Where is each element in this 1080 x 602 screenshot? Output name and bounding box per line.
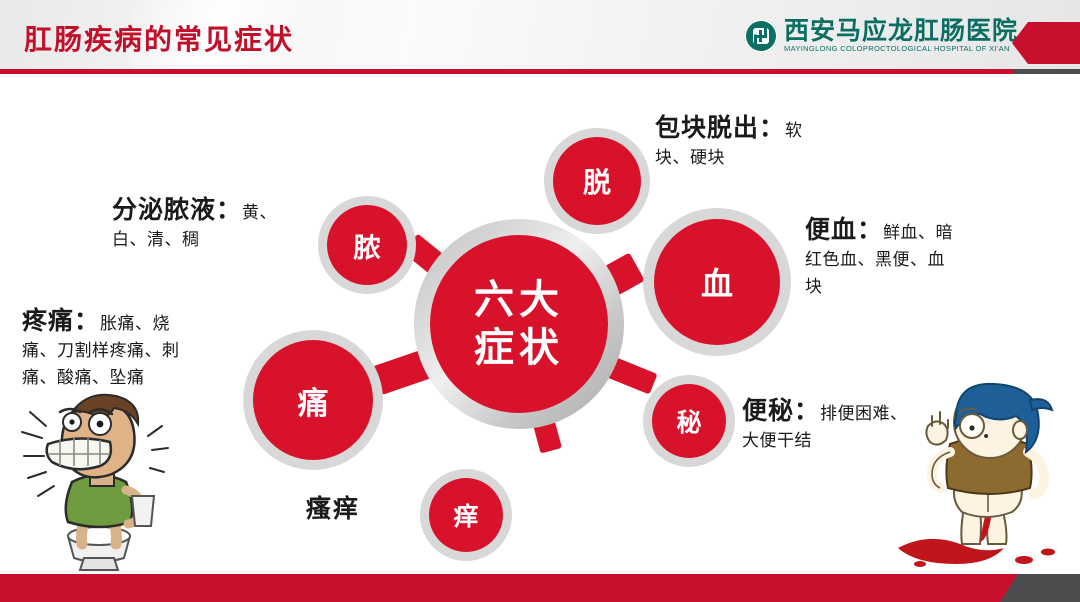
illustration-man-on-toilet xyxy=(12,386,187,571)
header-chevron-accent xyxy=(1012,22,1080,64)
page-title: 肛肠疾病的常见症状 xyxy=(24,18,294,58)
logo-name-cn: 西安马应龙肛肠医院 xyxy=(784,18,1018,44)
center-hub-line1: 六大 xyxy=(474,276,564,324)
node-yang[interactable]: 痒 xyxy=(429,478,503,552)
node-nong-label: 脓 xyxy=(354,226,381,265)
node-tong-label: 痛 xyxy=(298,378,329,423)
hospital-cross-emblem-icon xyxy=(744,19,778,53)
hospital-logo: 西安马应龙肛肠医院 MAYINGLONG COLOPROCTOLOGICAL H… xyxy=(744,13,1018,59)
center-hub[interactable]: 六大 症状 xyxy=(430,235,608,413)
callout-bianxue: 便血：鲜血、暗 红色血、黑便、血 块 xyxy=(805,210,1020,300)
callout-baokuai-line-1: 块、硬块 xyxy=(655,144,905,171)
callout-bianxue-line-1: 红色血、黑便、血 xyxy=(805,246,1020,273)
child-bleeding-svg xyxy=(898,382,1078,572)
callout-bianxue-line-2: 块 xyxy=(805,273,1020,300)
center-hub-line2: 症状 xyxy=(474,324,564,372)
node-mi-label: 秘 xyxy=(676,403,701,439)
node-xue[interactable]: 血 xyxy=(654,219,780,345)
callout-baokuai: 包块脱出：软 块、硬块 xyxy=(655,108,905,171)
cross-icon xyxy=(755,35,767,38)
callout-fenmi: 分泌脓液：黄、 白、清、稠 xyxy=(112,190,347,253)
callout-bianmi-head: 便秘： xyxy=(742,398,820,425)
callout-bianxue-head: 便血： xyxy=(805,217,883,244)
six-symptoms-diagram: 脱 血 秘 痒 痛 脓 六大 症状 包块脱出：软 块、硬块 xyxy=(0,74,1080,574)
logo-text: 西安马应龙肛肠医院 MAYINGLONG COLOPROCTOLOGICAL H… xyxy=(784,18,1018,54)
callout-tengtong-head: 疼痛： xyxy=(22,308,100,335)
callout-baokuai-inline: 软 xyxy=(785,121,803,140)
node-xue-label: 血 xyxy=(701,259,733,305)
callout-tengtong-inline: 胀痛、烧 xyxy=(100,314,170,333)
node-tong[interactable]: 痛 xyxy=(253,340,373,460)
man-on-toilet-svg xyxy=(12,386,187,571)
label-saoyang: 瘙痒 xyxy=(306,489,360,525)
callout-bianmi-inline: 排便困难、 xyxy=(820,404,908,423)
callout-tengtong: 疼痛：胀痛、烧 痛、刀割样疼痛、刺 痛、酸痛、坠痛 xyxy=(22,301,252,391)
slide: 肛肠疾病的常见症状 西安马应龙肛肠医院 MAYINGLONG COLOPROCT… xyxy=(0,0,1080,602)
callout-fenmi-inline: 黄、 xyxy=(242,203,277,222)
illustration-child-bleeding xyxy=(898,382,1078,572)
callout-baokuai-head: 包块脱出： xyxy=(655,115,785,142)
slide-header: 肛肠疾病的常见症状 西安马应龙肛肠医院 MAYINGLONG COLOPROCT… xyxy=(0,0,1080,70)
node-yang-label: 痒 xyxy=(453,497,478,533)
callout-tengtong-line-1: 痛、刀割样疼痛、刺 xyxy=(22,337,252,364)
logo-name-en: MAYINGLONG COLOPROCTOLOGICAL HOSPITAL OF… xyxy=(784,44,1018,54)
node-tuo-label: 脱 xyxy=(583,161,611,201)
slide-footer xyxy=(0,574,1080,602)
callout-bianxue-inline: 鲜血、暗 xyxy=(883,223,953,242)
node-mi[interactable]: 秘 xyxy=(652,384,726,458)
node-tuo[interactable]: 脱 xyxy=(553,137,641,225)
callout-fenmi-line-1: 白、清、稠 xyxy=(112,226,347,253)
callout-fenmi-head: 分泌脓液： xyxy=(112,197,242,224)
